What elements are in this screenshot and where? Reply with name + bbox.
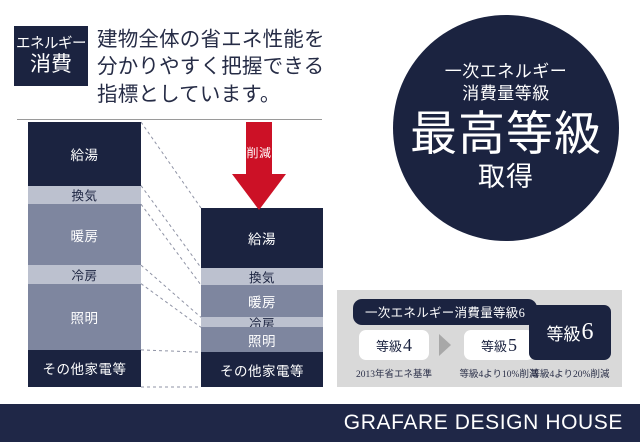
down-arrow-icon: [232, 122, 286, 210]
grade-caption-6: 等級4より20%削減: [518, 366, 622, 380]
badge-headline: 最高等級: [410, 110, 602, 162]
footer-bar: GRAFARE DESIGN HOUSE: [0, 404, 640, 442]
bar-current: 給湯換気暖房冷房照明その他家電等: [28, 122, 141, 387]
bar-reduced-segment-3: 暖房: [201, 285, 323, 317]
brand-name: GRAFARE DESIGN HOUSE: [344, 411, 640, 435]
bar-reduced-segment-1: 給湯: [201, 208, 323, 268]
badge-sub-line2: 消費量等級: [462, 85, 550, 104]
grade-box-4: 等級4: [359, 330, 429, 360]
grade-box-6-number: 6: [581, 319, 594, 346]
bar-current-segment-1: 給湯: [28, 122, 141, 186]
bar-current-segment-2: 換気: [28, 186, 141, 205]
reduction-arrow: 削減: [232, 122, 286, 210]
grade-box-6: 等級6: [529, 305, 611, 360]
bar-current-segment-3: 暖房: [28, 204, 141, 265]
bar-reduced-segment-6: その他家電等: [201, 352, 323, 387]
bar-reduced-segment-4: 冷房: [201, 317, 323, 327]
reduction-arrow-label: 削減: [232, 144, 286, 161]
grade-box-4-number: 4: [402, 335, 412, 356]
grade-box-6-label: 等級: [547, 320, 581, 345]
grade-box-5: 等級5: [464, 330, 534, 360]
bar-current-segment-6: その他家電等: [28, 350, 141, 387]
grade-box-5-label: 等級: [481, 336, 507, 355]
arrow-4-to-5-icon: [439, 334, 451, 356]
grade-progression-panel: 一次エネルギー消費量等級6 等級4 等級5 等級6 2013年省エネ基準 等級4…: [337, 290, 622, 387]
badge-sub-line1: 一次エネルギー: [445, 63, 568, 82]
highest-grade-badge: 一次エネルギー 消費量等級 最高等級 取得: [393, 15, 619, 241]
energy-breakdown-chart: 給湯換気暖房冷房照明その他家電等 給湯換気暖房冷房照明その他家電等 削減: [0, 0, 340, 400]
grade-panel-title: 一次エネルギー消費量等級6: [353, 299, 537, 325]
grade-box-4-label: 等級: [376, 336, 402, 355]
grade-caption-4: 2013年省エネ基準: [342, 366, 446, 380]
bar-reduced: 給湯換気暖房冷房照明その他家電等: [201, 208, 323, 387]
badge-subhead: 取得: [478, 163, 534, 193]
bar-reduced-segment-2: 換気: [201, 268, 323, 285]
bar-current-segment-4: 冷房: [28, 265, 141, 284]
bar-reduced-segment-5: 照明: [201, 327, 323, 352]
grade-box-5-number: 5: [507, 335, 517, 356]
bar-current-segment-5: 照明: [28, 284, 141, 350]
infographic-page: エネルギー 消費 建物全体の省エネ性能を 分かりやすく把握できる 指標としていま…: [0, 0, 640, 442]
